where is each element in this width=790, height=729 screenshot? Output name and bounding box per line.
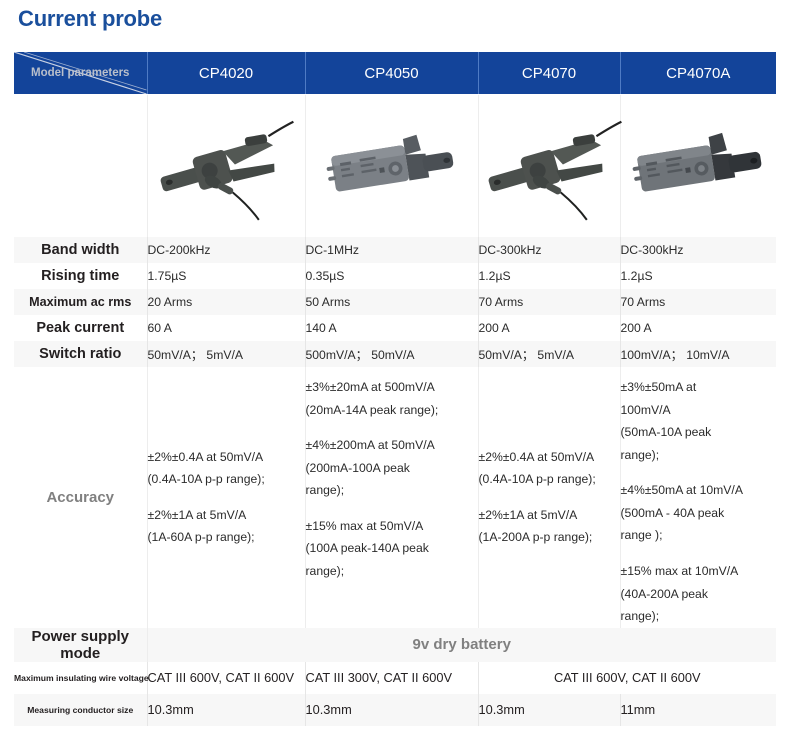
product-image-cell-cp4020 <box>147 95 305 238</box>
cell-insulating-voltage-cp4050: CAT III 300V, CAT II 600V <box>305 662 478 694</box>
row-label-rising-time: Rising time <box>14 263 147 289</box>
product-image-cell-cp4070a <box>620 95 776 238</box>
cell-power-supply-value: 9v dry battery <box>147 628 776 662</box>
accuracy-line: ±3%±20mA at 500mV/A <box>306 380 435 394</box>
accuracy-paragraph: ±2%±1A at 5mV/A (1A-60A p-p range); <box>148 504 305 549</box>
cell-rising-time-cp4070: 1.2µS <box>478 263 620 289</box>
cell-insulating-voltage-cp4020: CAT III 600V, CAT II 600V <box>147 662 305 694</box>
accuracy-line: (50mA-10A peak <box>621 425 712 439</box>
accuracy-paragraph: ±4%±200mA at 50mV/A (200mA-100A peak ran… <box>306 434 478 502</box>
cell-switch-ratio-cp4020: 50mV/A； 5mV/A <box>147 341 305 367</box>
accuracy-line: (100A peak-140A peak <box>306 541 429 555</box>
accuracy-paragraph: ±15% max at 10mV/A (40A-200A peak range)… <box>621 560 777 628</box>
cell-band-width-cp4070a: DC-300kHz <box>620 237 776 263</box>
accuracy-paragraph: ±2%±1A at 5mV/A (1A-200A p-p range); <box>479 504 620 549</box>
cell-max-ac-rms-cp4070a: 70 Arms <box>620 289 776 315</box>
cell-accuracy-cp4020: ±2%±0.4A at 50mV/A (0.4A-10A p-p range);… <box>147 367 305 628</box>
cp4020-probe-photo <box>151 111 301 221</box>
cp4070a-probe-photo <box>623 111 773 221</box>
cell-band-width-cp4070: DC-300kHz <box>478 237 620 263</box>
cell-rising-time-cp4050: 0.35µS <box>305 263 478 289</box>
corner-label: Model parameters <box>14 52 147 94</box>
corner-model-parameters-cell: Model parameters <box>14 52 147 95</box>
product-image-cell-cp4050 <box>305 95 478 238</box>
page-title: Current probe <box>18 6 162 32</box>
accuracy-line: (0.4A-10A p-p range); <box>479 472 596 486</box>
accuracy-line: ±2%±1A at 5mV/A <box>148 508 247 522</box>
accuracy-line: range); <box>621 609 660 623</box>
cell-peak-current-cp4050: 140 A <box>305 315 478 341</box>
accuracy-line: 100mV/A <box>621 403 671 417</box>
accuracy-paragraph: ±3%±50mA at 100mV/A (50mA-10A peak range… <box>621 376 777 466</box>
accuracy-paragraph: ±4%±50mA at 10mV/A (500mA - 40A peak ran… <box>621 479 777 547</box>
row-label-power-supply-mode: Power supply mode <box>14 628 147 662</box>
table-row-maximum-ac-rms: Maximum ac rms 20 Arms 50 Arms 70 Arms 7… <box>14 289 776 315</box>
cell-conductor-size-cp4020: 10.3mm <box>147 694 305 726</box>
table-row-power-supply: Power supply mode 9v dry battery <box>14 628 776 662</box>
cell-max-ac-rms-cp4020: 20 Arms <box>147 289 305 315</box>
accuracy-paragraph: ±2%±0.4A at 50mV/A (0.4A-10A p-p range); <box>148 446 305 491</box>
accuracy-line: (40A-200A peak <box>621 587 708 601</box>
accuracy-line: (20mA-14A peak range); <box>306 403 439 417</box>
cell-max-ac-rms-cp4050: 50 Arms <box>305 289 478 315</box>
cell-peak-current-cp4020: 60 A <box>147 315 305 341</box>
accuracy-line: (1A-200A p-p range); <box>479 530 593 544</box>
table-row-max-insulating-wire-voltage: Maximum insulating wire voltage CAT III … <box>14 662 776 694</box>
table-row-band-width: Band width DC-200kHz DC-1MHz DC-300kHz D… <box>14 237 776 263</box>
accuracy-line: ±2%±1A at 5mV/A <box>479 508 578 522</box>
product-image-cell-cp4070 <box>478 95 620 238</box>
accuracy-paragraph: ±15% max at 50mV/A (100A peak-140A peak … <box>306 515 478 583</box>
table-row-rising-time: Rising time 1.75µS 0.35µS 1.2µS 1.2µS <box>14 263 776 289</box>
cell-insulating-voltage-cp4070-cp4070a: CAT III 600V, CAT II 600V <box>478 662 776 694</box>
accuracy-line: ±15% max at 50mV/A <box>306 519 424 533</box>
product-image-row <box>14 95 776 238</box>
row-label-switch-ratio: Switch ratio <box>14 341 147 367</box>
accuracy-line: ±2%±0.4A at 50mV/A <box>479 450 595 464</box>
accuracy-paragraph: ±2%±0.4A at 50mV/A (0.4A-10A p-p range); <box>479 446 620 491</box>
accuracy-line: range); <box>621 448 660 462</box>
cell-switch-ratio-cp4070: 50mV/A； 5mV/A <box>478 341 620 367</box>
accuracy-line: (500mA - 40A peak <box>621 506 725 520</box>
row-label-accuracy: Accuracy <box>14 367 147 628</box>
spec-sheet-page: Current probe Model parameters CP4020 CP… <box>0 0 790 729</box>
cell-switch-ratio-cp4070a: 100mV/A； 10mV/A <box>620 341 776 367</box>
table-row-accuracy: Accuracy ±2%±0.4A at 50mV/A (0.4A-10A p-… <box>14 367 776 628</box>
cell-peak-current-cp4070a: 200 A <box>620 315 776 341</box>
accuracy-line: range); <box>306 564 345 578</box>
row-label-maximum-ac-rms: Maximum ac rms <box>14 289 147 315</box>
cell-switch-ratio-cp4050: 500mV/A； 50mV/A <box>305 341 478 367</box>
accuracy-line: (0.4A-10A p-p range); <box>148 472 265 486</box>
cell-accuracy-cp4070a: ±3%±50mA at 100mV/A (50mA-10A peak range… <box>620 367 776 628</box>
cell-peak-current-cp4070: 200 A <box>478 315 620 341</box>
row-label-peak-current: Peak current <box>14 315 147 341</box>
image-row-spacer <box>14 95 147 238</box>
cell-band-width-cp4050: DC-1MHz <box>305 237 478 263</box>
table-row-measuring-conductor-size: Measuring conductor size 10.3mm 10.3mm 1… <box>14 694 776 726</box>
accuracy-line: (1A-60A p-p range); <box>148 530 255 544</box>
cell-accuracy-cp4050: ±3%±20mA at 500mV/A (20mA-14A peak range… <box>305 367 478 628</box>
cell-rising-time-cp4020: 1.75µS <box>147 263 305 289</box>
accuracy-line: ±4%±200mA at 50mV/A <box>306 438 435 452</box>
cell-band-width-cp4020: DC-200kHz <box>147 237 305 263</box>
accuracy-line: ±2%±0.4A at 50mV/A <box>148 450 264 464</box>
specification-table: Model parameters CP4020 CP4050 CP4070 CP… <box>14 52 776 726</box>
row-label-max-insulating-wire-voltage: Maximum insulating wire voltage <box>14 662 147 694</box>
cell-conductor-size-cp4070a: 11mm <box>620 694 776 726</box>
table-header-row: Model parameters CP4020 CP4050 CP4070 CP… <box>14 52 776 95</box>
row-label-measuring-conductor-size: Measuring conductor size <box>14 694 147 726</box>
accuracy-line: (200mA-100A peak <box>306 461 410 475</box>
table-row-peak-current: Peak current 60 A 140 A 200 A 200 A <box>14 315 776 341</box>
model-header-cp4020: CP4020 <box>147 52 305 95</box>
model-header-cp4050: CP4050 <box>305 52 478 95</box>
accuracy-line: ±15% max at 10mV/A <box>621 564 739 578</box>
cell-rising-time-cp4070a: 1.2µS <box>620 263 776 289</box>
accuracy-line: ±4%±50mA at 10mV/A <box>621 483 743 497</box>
row-label-band-width: Band width <box>14 237 147 263</box>
cp4050-probe-photo <box>317 111 467 221</box>
cell-accuracy-cp4070: ±2%±0.4A at 50mV/A (0.4A-10A p-p range);… <box>478 367 620 628</box>
cell-conductor-size-cp4050: 10.3mm <box>305 694 478 726</box>
accuracy-line: range); <box>306 483 345 497</box>
table-row-switch-ratio: Switch ratio 50mV/A； 5mV/A 500mV/A； 50mV… <box>14 341 776 367</box>
cell-conductor-size-cp4070: 10.3mm <box>478 694 620 726</box>
accuracy-line: range ); <box>621 528 663 542</box>
accuracy-line: ±3%±50mA at <box>621 380 697 394</box>
accuracy-paragraph: ±3%±20mA at 500mV/A (20mA-14A peak range… <box>306 376 478 421</box>
cell-max-ac-rms-cp4070: 70 Arms <box>478 289 620 315</box>
model-header-cp4070a: CP4070A <box>620 52 776 95</box>
cp4070-probe-photo <box>479 111 629 221</box>
model-header-cp4070: CP4070 <box>478 52 620 95</box>
